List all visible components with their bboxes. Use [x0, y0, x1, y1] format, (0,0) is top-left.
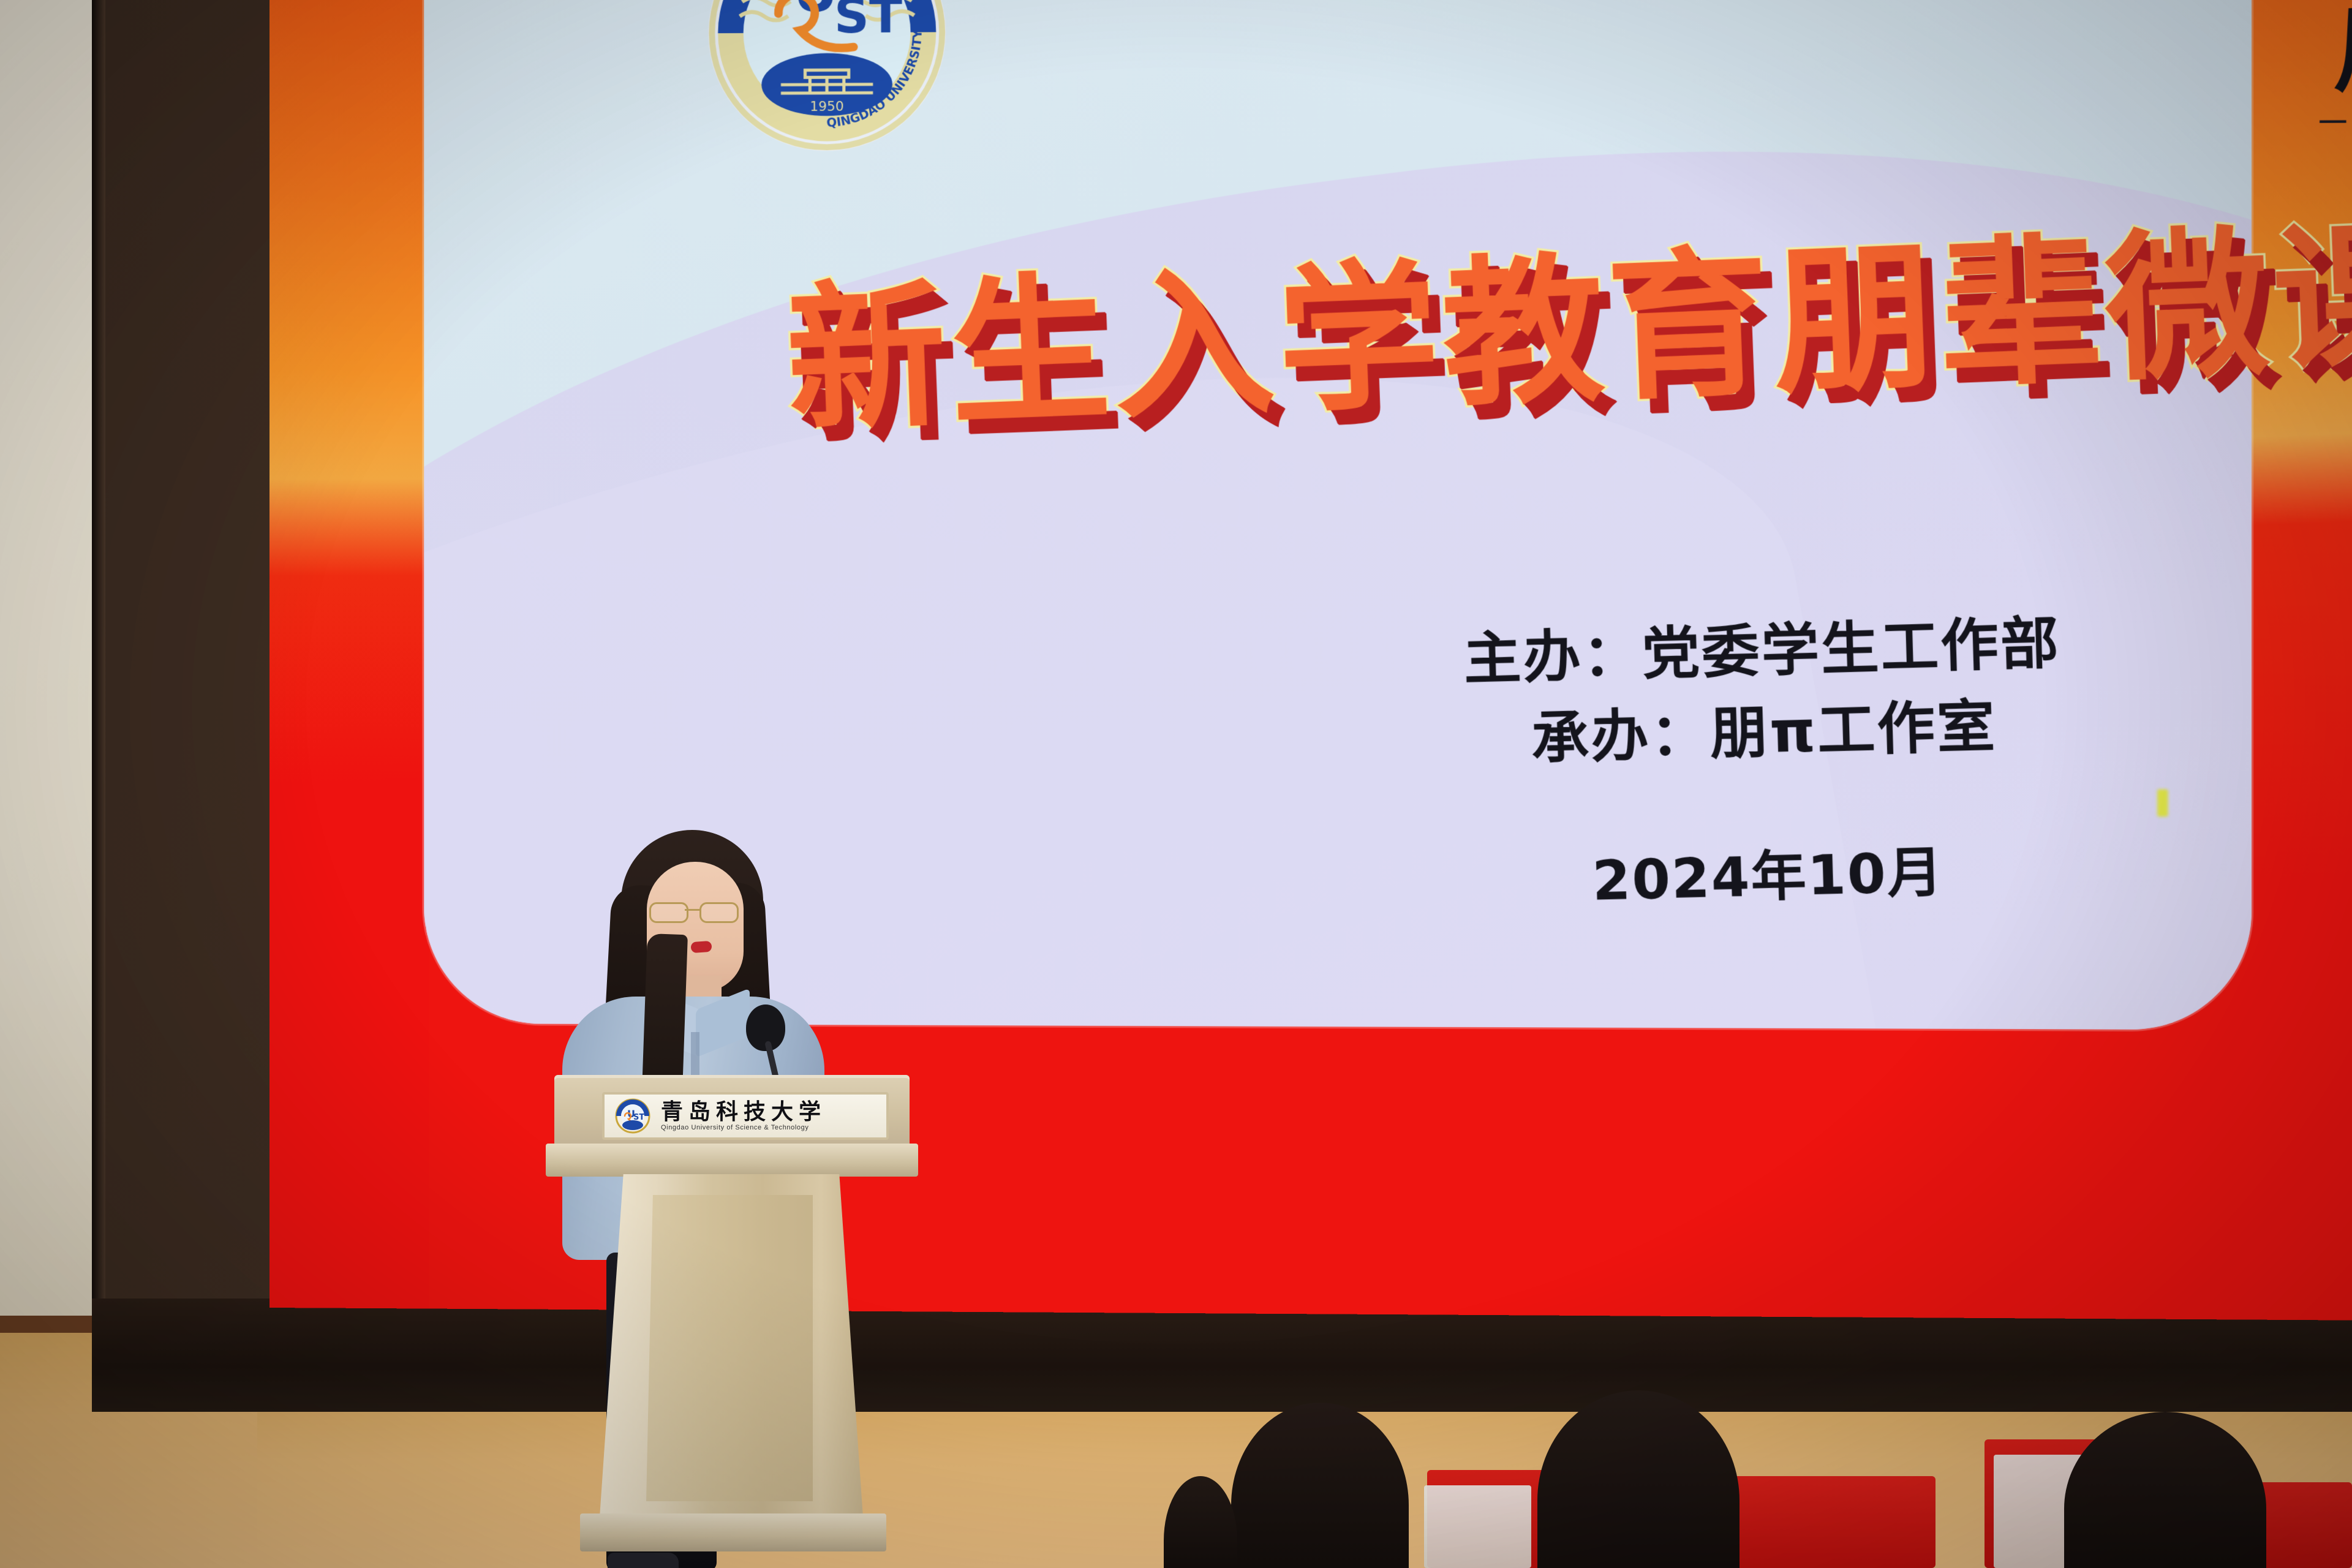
studio-logo-cn: 朋π — [2301, 0, 2352, 99]
laser-pointer-dot — [2157, 790, 2168, 817]
svg-text:1950: 1950 — [810, 99, 843, 115]
podium-base — [580, 1513, 886, 1551]
podium-column-panel — [646, 1195, 813, 1501]
pengpi-studio-logo: 朋π —infinite— — [2304, 0, 2352, 164]
slide-subtitle-block: 主办：党委学生工作部 承办：朋π工作室 2024年10月 — [1384, 601, 2147, 921]
seat-card — [1424, 1485, 1531, 1568]
lecture-hall-photo: 青 学 1950 U ST QINGDAO UNIVERSITY OF SC — [0, 0, 2352, 1568]
podium-plaque-cn: 青岛科技大学 — [661, 1101, 826, 1123]
slide-border-left — [269, 0, 429, 1309]
lectern-podium: U ST 青岛科技大学 Qingdao University of Scienc… — [554, 1075, 910, 1568]
studio-logo-tagline: —infinite— — [2304, 104, 2352, 135]
speaker-lips — [690, 941, 712, 953]
audience-seat — [1733, 1476, 1936, 1568]
podium-seal-icon: U ST — [614, 1098, 651, 1134]
podium-nameplate: U ST 青岛科技大学 Qingdao University of Scienc… — [602, 1092, 889, 1140]
podium-lip — [546, 1144, 918, 1177]
stage-wall-edge — [92, 0, 105, 1406]
svg-text:ST: ST — [834, 0, 903, 44]
speaker-glasses — [648, 902, 737, 921]
podium-plaque-en: Qingdao University of Science & Technolo… — [661, 1125, 826, 1131]
side-wall — [0, 0, 104, 1347]
qust-seal-logo: 青 学 1950 U ST QINGDAO UNIVERSITY OF SC — [706, 0, 948, 154]
